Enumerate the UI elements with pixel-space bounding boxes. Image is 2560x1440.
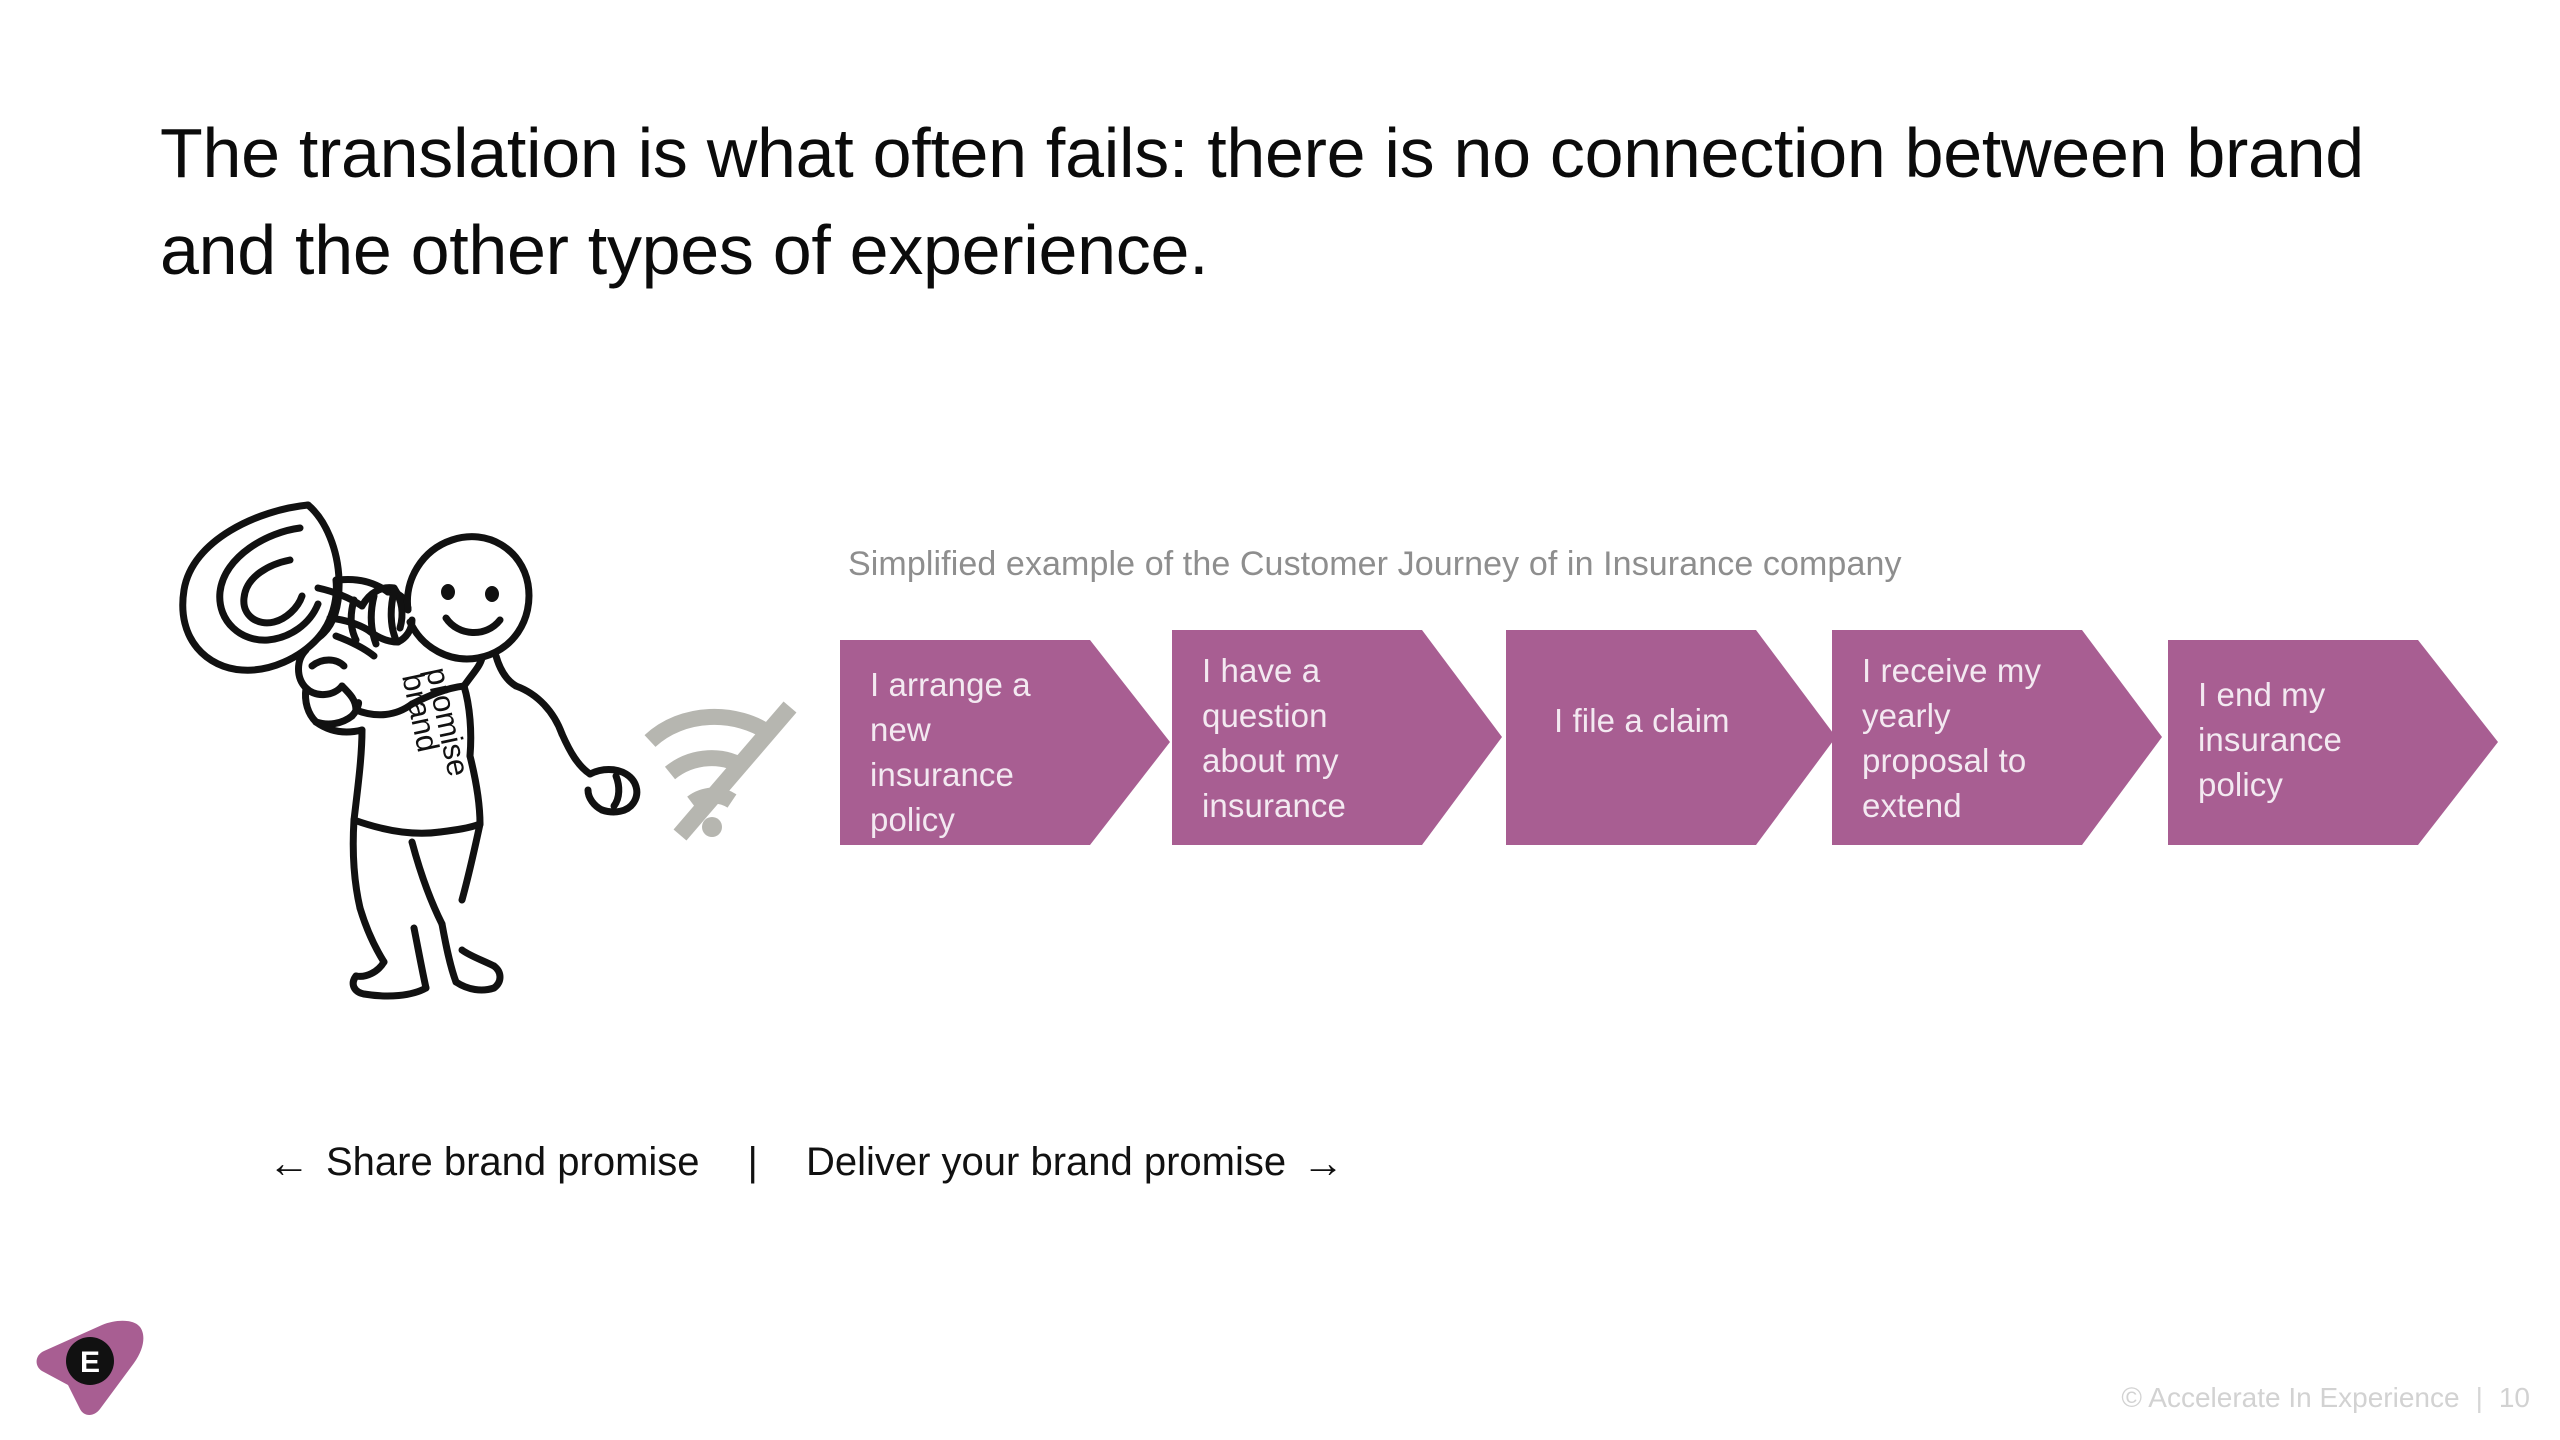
slide-canvas: The translation is what often fails: the… [0,0,2560,1440]
journey-step-1-label: I arrange a new insurance policy [870,662,1060,842]
logo-letter: E [80,1346,100,1379]
arrow-left-icon: ← [268,1142,310,1184]
arrow-right-icon: → [1302,1142,1344,1184]
wifi-off-icon [640,695,810,845]
journey-step-5-label: I end my insurance policy [2198,672,2388,807]
caption-separator: | [748,1140,758,1185]
brand-promise-person-illustration: brand promise [150,480,670,1040]
footer-page-number: 10 [2499,1382,2530,1414]
journey-step-2[interactable]: I have a question about my insurance [1172,630,1502,845]
footer-copyright: © Accelerate In Experience [2121,1382,2459,1414]
accelerate-in-experience-logo: E [28,1305,158,1425]
journey-step-3-label: I file a claim [1554,698,1744,743]
journey-step-3[interactable]: I file a claim [1506,630,1836,845]
journey-caption: Simplified example of the Customer Journ… [848,545,1902,584]
journey-step-1[interactable]: I arrange a new insurance policy [840,640,1170,845]
page-title: The translation is what often fails: the… [160,105,2450,299]
brand-promise-caption: ← Share brand promise | Deliver your bra… [268,1140,1344,1185]
journey-step-4[interactable]: I receive my yearly proposal to extend [1832,630,2162,845]
deliver-brand-promise-label: Deliver your brand promise [806,1140,1286,1185]
share-brand-promise-label: Share brand promise [326,1140,700,1185]
journey-step-4-label: I receive my yearly proposal to extend [1862,648,2062,828]
journey-step-2-label: I have a question about my insurance [1202,648,1392,828]
slide-footer: © Accelerate In Experience | 10 [2121,1382,2530,1414]
journey-step-5[interactable]: I end my insurance policy [2168,640,2498,845]
footer-separator: | [2476,1382,2483,1414]
